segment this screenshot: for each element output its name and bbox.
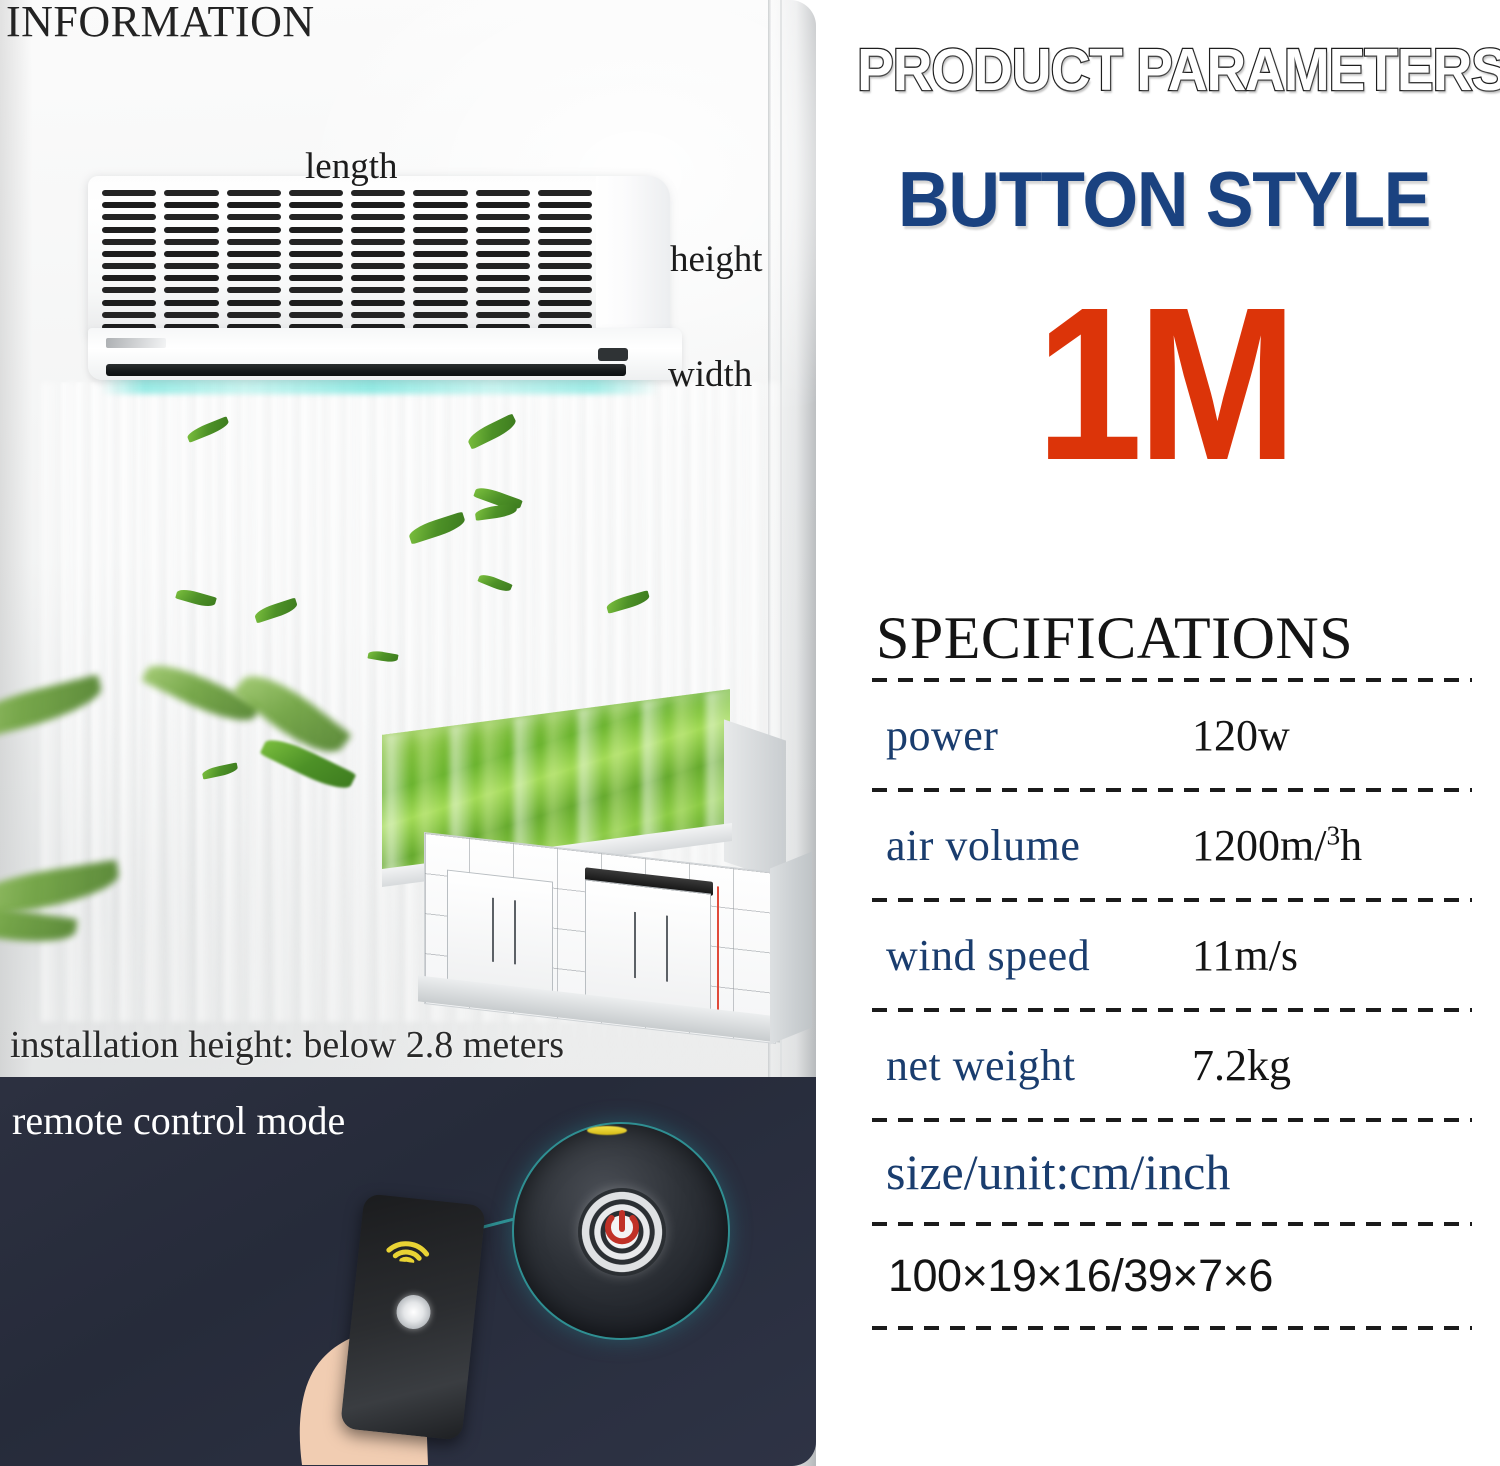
spec-label-size-unit: size/unit:cm/inch <box>872 1143 1230 1201</box>
grille-column <box>538 190 592 330</box>
spec-label-net-weight: net weight <box>872 1040 1192 1091</box>
product-infographic: length height width <box>0 0 1500 1466</box>
product-parameters-title: PRODUCT PARAMETERS <box>857 36 1471 104</box>
grille-column <box>227 190 281 330</box>
unit-end-cap <box>596 176 670 336</box>
unit-air-outlet <box>106 364 626 376</box>
spec-label-power: power <box>872 710 1192 761</box>
spec-value-air-volume: 1200m/3h <box>1192 820 1472 871</box>
table-row: 100×19×16/39×7×6 <box>872 1226 1472 1326</box>
grille-column <box>289 190 343 330</box>
unit-sensor-window <box>598 348 628 361</box>
grille-column <box>413 190 467 330</box>
size-headline: 1M <box>874 270 1455 500</box>
table-divider <box>872 1326 1472 1330</box>
air-curtain-unit <box>88 176 688 392</box>
remote-control-caption: remote control mode <box>12 1097 345 1144</box>
table-row: net weight 7.2kg <box>872 1012 1472 1118</box>
installation-height-caption: installation height: below 2.8 meters <box>10 1023 564 1067</box>
wifi-signal-icon <box>384 1228 433 1265</box>
specifications-panel: PRODUCT PARAMETERS BUTTON STYLE 1M SPECI… <box>824 0 1500 1466</box>
grille-column <box>102 190 156 330</box>
dimension-label-length: length <box>305 145 397 188</box>
button-style-title: BUTTON STYLE <box>860 154 1467 245</box>
spec-value-net-weight: 7.2kg <box>1192 1040 1472 1091</box>
storefront-signboard-side <box>724 719 786 882</box>
grille-column <box>164 190 218 330</box>
unit-grille <box>102 190 592 330</box>
table-row: size/unit:cm/inch <box>872 1122 1472 1222</box>
air-volume-prefix: 1200m/ <box>1192 821 1326 870</box>
information-label: INFORMATION <box>6 0 315 47</box>
specifications-table: power 120w air volume 1200m/3h wind spee… <box>872 678 1472 1330</box>
led-indicator <box>587 1126 627 1135</box>
storefront-door-left <box>447 870 553 994</box>
remote-control-device[interactable] <box>340 1193 486 1440</box>
spec-value-dimensions: 100×19×16/39×7×6 <box>872 1250 1273 1302</box>
table-row: air volume 1200m/3h <box>872 792 1472 898</box>
table-row: wind speed 11m/s <box>872 902 1472 1008</box>
table-row: power 120w <box>872 682 1472 788</box>
storefront-illustration <box>372 700 816 1048</box>
unit-body <box>88 176 668 336</box>
grille-column <box>351 190 405 330</box>
spec-label-wind-speed: wind speed <box>872 930 1192 981</box>
air-volume-suffix: h <box>1340 821 1362 870</box>
spec-label-air-volume: air volume <box>872 820 1192 871</box>
power-icon <box>600 1207 644 1253</box>
dimension-label-width: width <box>668 353 752 396</box>
dimension-label-height: height <box>670 238 762 281</box>
spec-value-power: 120w <box>1192 710 1472 761</box>
storefront-side-wall <box>770 852 812 1045</box>
spec-value-wind-speed: 11m/s <box>1192 930 1472 981</box>
specifications-heading: SPECIFICATIONS <box>876 604 1353 673</box>
air-volume-superscript: 3 <box>1326 820 1340 850</box>
unit-brand-logo <box>106 338 166 348</box>
grille-column <box>476 190 530 330</box>
remote-power-button[interactable] <box>395 1293 432 1330</box>
